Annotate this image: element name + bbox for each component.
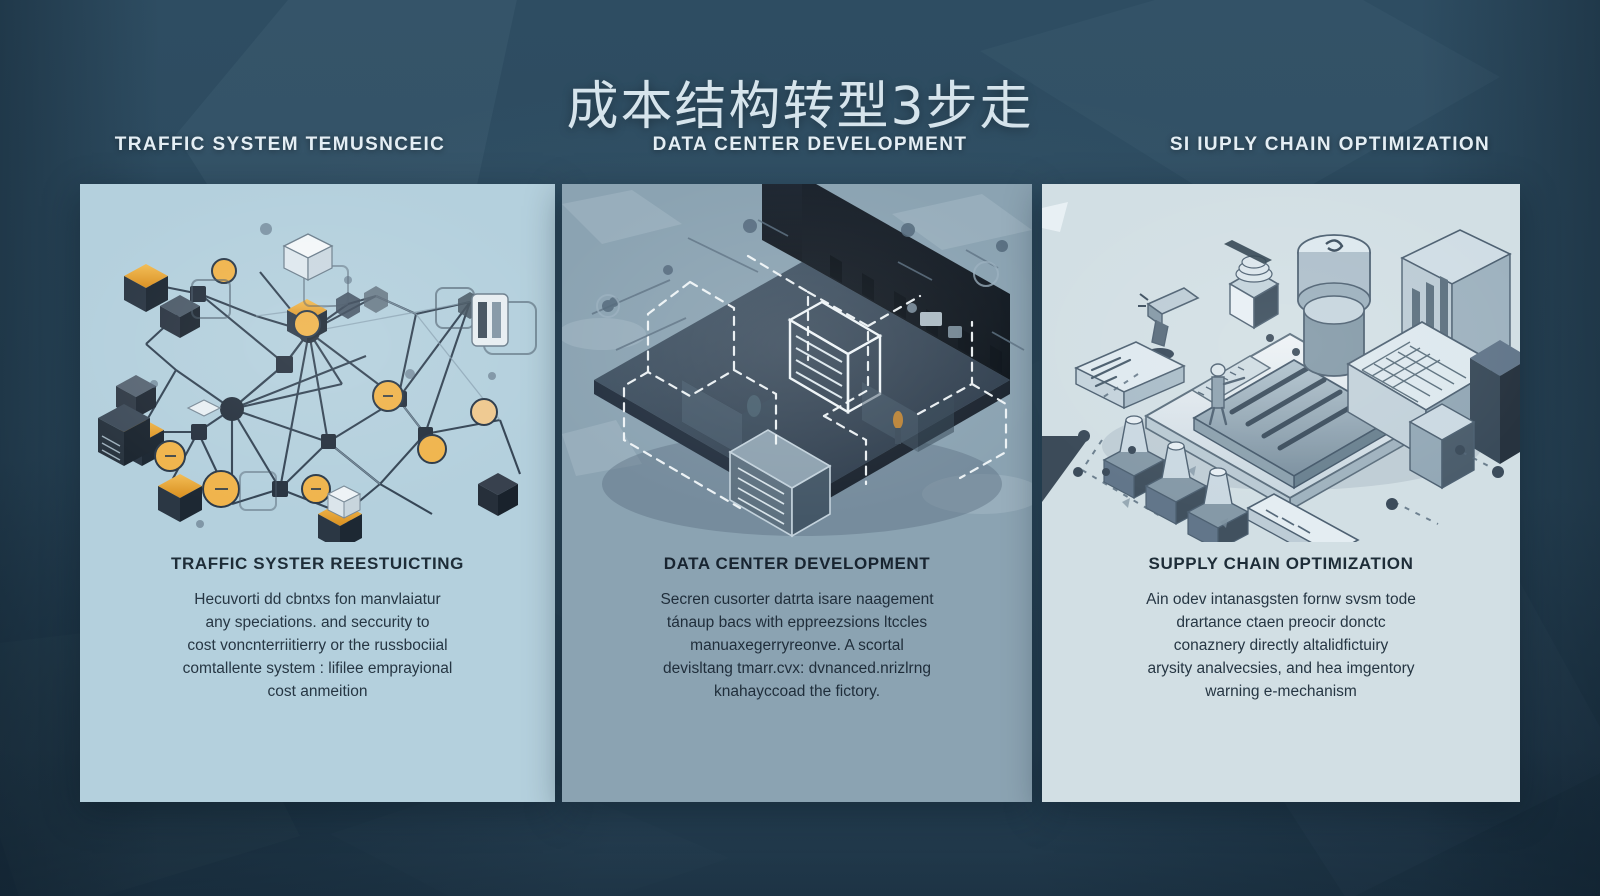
card-body: Ain odev intanasgsten fornw svsm tode dr…	[1064, 588, 1498, 703]
body-line: Ain odev intanasgsten fornw svsm tode	[1064, 588, 1498, 611]
column-header-traffic-system: TRAFFIC SYSTEM TEMUSNCEIC	[0, 134, 560, 156]
body-line: knahayccoad the fictory.	[584, 680, 1010, 703]
card-data-center[interactable]: DATA CENTER DEVELOPMENT Secren cusorter …	[562, 184, 1032, 802]
isometric-datacenter-icon	[562, 184, 1032, 542]
page-title: 成本结构转型3步走	[0, 64, 1600, 139]
body-line: comtallente system : lifilee emprayional	[102, 657, 533, 680]
card-traffic-system[interactable]: TRAFFIC SYSTER REESTUICTING Hecuvorti dd…	[80, 184, 555, 802]
body-line: any speciations. and seccurity to	[102, 611, 533, 634]
isometric-supply-chain-icon	[1042, 184, 1520, 542]
card-subtitle: DATA CENTER DEVELOPMENT	[584, 554, 1010, 574]
body-line: tánaup bacs with eppreezsions ltccles	[584, 611, 1010, 634]
card-body: Hecuvorti dd cbntxs fon manvlaiatur any …	[102, 588, 533, 703]
column-header-supply-chain: SI IUPLY CHAIN OPTIMIZATION	[1060, 134, 1600, 156]
body-line: arysity analvecsies, and hea imgentory	[1064, 657, 1498, 680]
body-line: Secren cusorter datrta isare naagement	[584, 588, 1010, 611]
body-line: manuaxegerryreonve. A scortal	[584, 634, 1010, 657]
card-illustration-traffic-system	[80, 184, 555, 542]
body-line: drartance ctaen preocir donctc	[1064, 611, 1498, 634]
card-illustration-data-center	[562, 184, 1032, 542]
column-header-row: TRAFFIC SYSTEM TEMUSNCEIC DATA CENTER DE…	[0, 134, 1600, 156]
body-line: Hecuvorti dd cbntxs fon manvlaiatur	[102, 588, 533, 611]
column-header-data-center: DATA CENTER DEVELOPMENT	[560, 134, 1060, 156]
card-subtitle: TRAFFIC SYSTER REESTUICTING	[102, 554, 533, 574]
card-text-supply-chain: SUPPLY CHAIN OPTIMIZATION Ain odev intan…	[1042, 542, 1520, 802]
poster-root: 成本结构转型3步走 TRAFFIC SYSTEM TEMUSNCEIC DATA…	[0, 0, 1600, 896]
body-line: cost voncnterriitierry or the russbociia…	[102, 634, 533, 657]
card-body: Secren cusorter datrta isare naagement t…	[584, 588, 1010, 703]
card-text-traffic-system: TRAFFIC SYSTER REESTUICTING Hecuvorti dd…	[80, 542, 555, 802]
body-line: warning e-mechanism	[1064, 680, 1498, 703]
card-text-data-center: DATA CENTER DEVELOPMENT Secren cusorter …	[562, 542, 1032, 802]
network-graph-icon	[80, 184, 555, 542]
body-line: cost anmeition	[102, 680, 533, 703]
body-line: conaznery directly altalidfictuiry	[1064, 634, 1498, 657]
card-supply-chain[interactable]: SUPPLY CHAIN OPTIMIZATION Ain odev intan…	[1042, 184, 1520, 802]
card-illustration-supply-chain	[1042, 184, 1520, 542]
card-subtitle: SUPPLY CHAIN OPTIMIZATION	[1064, 554, 1498, 574]
body-line: devisltang tmarr.cvx: dvnanced.nrizlrng	[584, 657, 1010, 680]
